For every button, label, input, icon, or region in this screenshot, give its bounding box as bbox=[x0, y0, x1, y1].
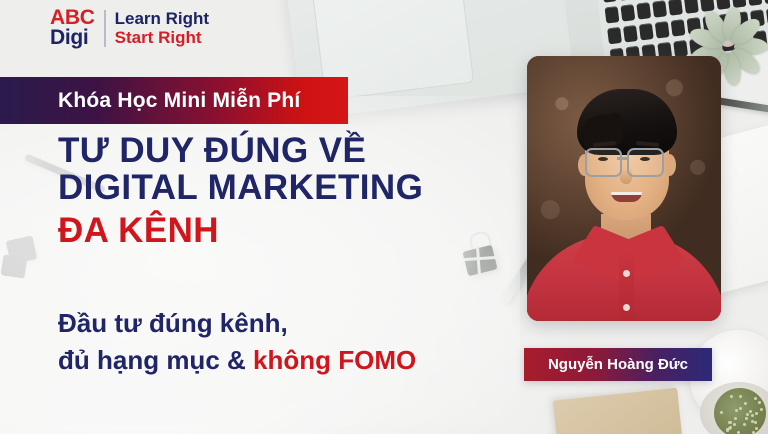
speaker-photo bbox=[527, 56, 721, 321]
photo-glasses-left-lens bbox=[585, 148, 622, 177]
cactus-spine bbox=[726, 428, 729, 431]
keyboard-key bbox=[605, 6, 620, 23]
cactus-spine bbox=[735, 409, 738, 412]
cactus-spine bbox=[720, 411, 723, 414]
course-type-badge-label: Khóa Học Mini Miễn Phí bbox=[58, 89, 300, 113]
logo-divider bbox=[104, 10, 106, 47]
cactus-plant bbox=[714, 388, 766, 434]
keyboard-key bbox=[620, 4, 635, 21]
headline-block: TƯ DUY ĐÚNG VỀ DIGITAL MARKETING ĐA KÊNH bbox=[58, 132, 528, 249]
photo-glasses-right-lens bbox=[627, 148, 664, 177]
logo-abc-text: ABC bbox=[50, 8, 95, 28]
cactus-spine bbox=[754, 421, 757, 424]
keyboard-key bbox=[636, 2, 651, 19]
headline-line-1: TƯ DUY ĐÚNG VỀ bbox=[58, 132, 528, 169]
photo-glasses-bridge bbox=[617, 157, 628, 160]
photo-nose bbox=[620, 168, 632, 184]
tagline-line-1: Learn Right bbox=[115, 9, 209, 28]
keyboard-key bbox=[618, 0, 633, 1]
cactus-spine bbox=[755, 412, 758, 415]
keyboard-key bbox=[623, 25, 638, 42]
keyboard-key bbox=[639, 23, 654, 40]
speaker-name-badge: Nguyễn Hoàng Đức bbox=[524, 348, 712, 381]
cactus-spine bbox=[755, 427, 758, 430]
cactus-spine bbox=[733, 423, 736, 426]
tagline-line-2: Start Right bbox=[115, 28, 209, 47]
subheadline-line-1: Đầu tư đúng kênh, bbox=[58, 305, 528, 342]
cactus-spine bbox=[743, 423, 746, 426]
headline-line-2: DIGITAL MARKETING bbox=[58, 169, 528, 206]
promo-banner: ABC Digi Learn Right Start Right Khóa Họ… bbox=[0, 0, 768, 434]
course-type-badge: Khóa Học Mini Miễn Phí bbox=[0, 77, 348, 124]
keyboard-key bbox=[652, 0, 667, 17]
cactus-spine bbox=[760, 408, 763, 411]
cactus-spine bbox=[734, 417, 737, 420]
logo-wordmark: ABC Digi bbox=[50, 8, 95, 49]
keyboard-key bbox=[607, 27, 622, 44]
keyboard-key bbox=[655, 21, 670, 38]
subheadline-line-2-highlight: không FOMO bbox=[253, 345, 416, 375]
headline-line-3: ĐA KÊNH bbox=[58, 212, 528, 249]
cactus-spine bbox=[744, 402, 747, 405]
keyboard-key bbox=[668, 0, 683, 16]
cactus-spine bbox=[746, 413, 749, 416]
cactus-spine bbox=[739, 407, 742, 410]
subheadline-block: Đầu tư đúng kênh, đủ hạng mục & không FO… bbox=[58, 305, 528, 379]
cactus-spine bbox=[758, 401, 761, 404]
speaker-name-label: Nguyễn Hoàng Đức bbox=[548, 356, 688, 373]
cactus-spine bbox=[754, 397, 757, 400]
keyboard-key bbox=[602, 0, 617, 3]
cactus-spine bbox=[751, 414, 754, 417]
cactus-spine bbox=[729, 421, 732, 424]
cactus-spine bbox=[737, 431, 740, 434]
cactus-spine bbox=[751, 420, 754, 423]
cactus-spine bbox=[730, 395, 733, 398]
brand-logo[interactable]: ABC Digi Learn Right Start Right bbox=[50, 8, 209, 49]
cactus-spine bbox=[745, 417, 748, 420]
cactus-spine bbox=[752, 431, 755, 434]
photo-shirt-button-1 bbox=[623, 270, 630, 277]
photo-shirt-button-2 bbox=[623, 304, 630, 311]
logo-digi-text: Digi bbox=[50, 28, 95, 48]
cactus-spine bbox=[749, 410, 752, 413]
keyboard-key bbox=[673, 40, 688, 57]
cactus-spine bbox=[739, 395, 742, 398]
subheadline-line-2-plain: đủ hạng mục & bbox=[58, 345, 253, 375]
subheadline-line-2: đủ hạng mục & không FOMO bbox=[58, 342, 528, 379]
logo-tagline: Learn Right Start Right bbox=[115, 9, 209, 47]
keyboard-key bbox=[671, 19, 686, 36]
